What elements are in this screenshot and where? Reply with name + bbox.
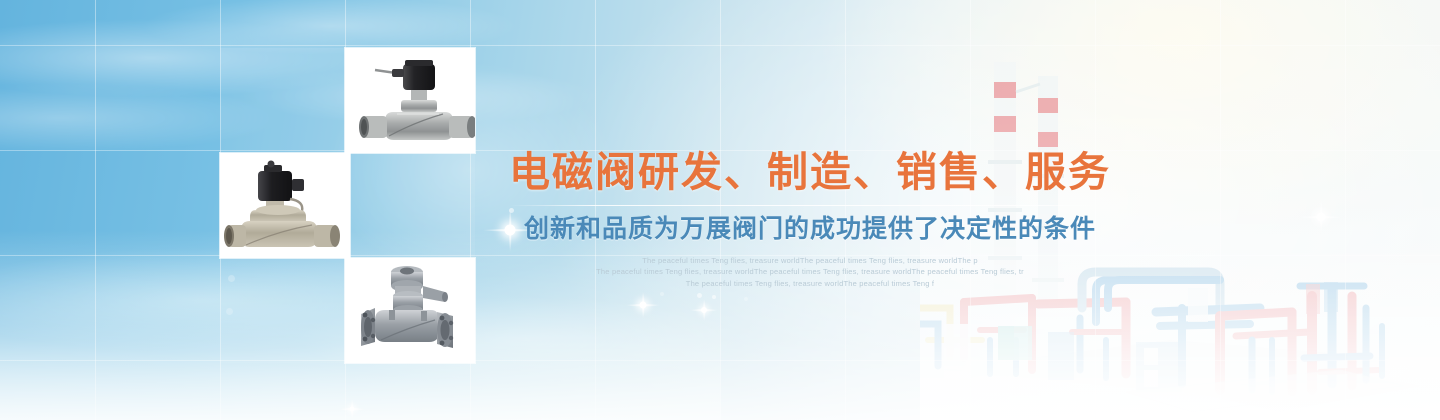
blurb-text: The peaceful times Teng flies, treasure … <box>500 255 1120 290</box>
bokeh-dot <box>697 293 702 298</box>
blurb-line: The peaceful times Teng flies, treasure … <box>500 255 1120 267</box>
product-tile-solenoid-valve-threaded-inline[interactable] <box>345 48 475 153</box>
bokeh-dot <box>712 295 716 299</box>
hero-banner: 电磁阀研发、制造、销售、服务 创新和品质为万展阀门的成功提供了决定性的条件 Th… <box>0 0 1440 420</box>
bokeh-dot <box>228 275 235 282</box>
solenoid-valve-brass-body-icon <box>220 153 350 258</box>
product-tile-solenoid-valve-brass-body[interactable] <box>220 153 350 258</box>
page-title: 电磁阀研发、制造、销售、服务 <box>500 150 1120 194</box>
grid-cell-highlight <box>220 48 345 153</box>
bokeh-dot <box>226 308 233 315</box>
bokeh-dot <box>660 292 664 296</box>
solenoid-valve-flanged-icon <box>345 258 475 363</box>
page-subtitle: 创新和品质为万展阀门的成功提供了决定性的条件 <box>500 215 1120 243</box>
title-divider <box>510 205 1110 206</box>
solenoid-valve-threaded-inline-icon <box>345 48 475 153</box>
blurb-line: The peaceful times Teng flies, treasure … <box>500 266 1120 278</box>
hero-copy: 电磁阀研发、制造、销售、服务 创新和品质为万展阀门的成功提供了决定性的条件 Th… <box>500 150 1120 290</box>
bokeh-dot <box>744 297 748 301</box>
blurb-line: The peaceful times Teng flies, treasure … <box>500 278 1120 290</box>
product-tile-solenoid-valve-flanged[interactable] <box>345 258 475 363</box>
